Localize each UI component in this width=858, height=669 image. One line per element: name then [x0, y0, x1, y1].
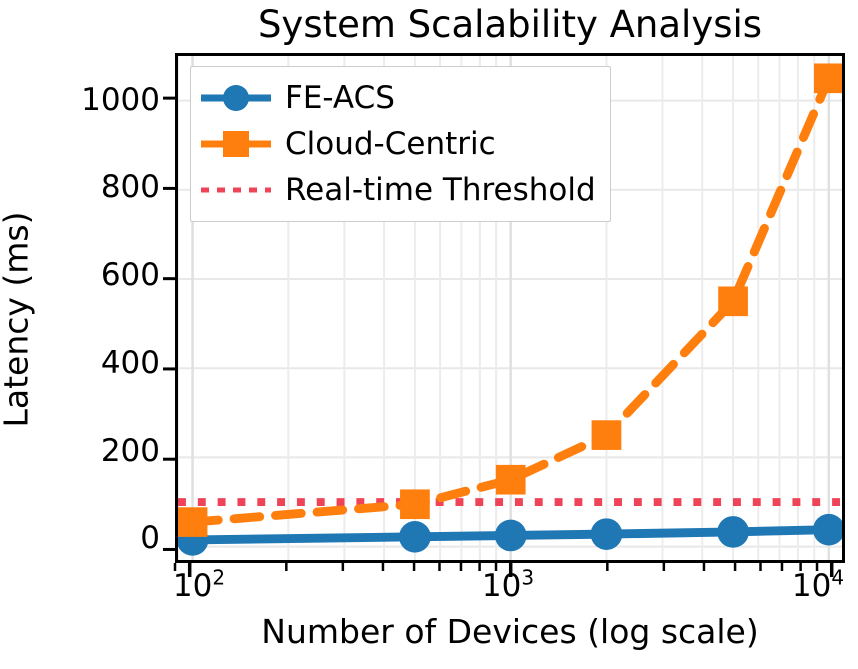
legend-label-fe-acs: FE-ACS [285, 80, 395, 116]
legend-swatch-line-circle [201, 78, 271, 118]
legend-item-fe-acs[interactable]: FE-ACS [201, 75, 596, 121]
data-point-marker [399, 521, 431, 553]
legend-swatch-line-square [201, 124, 271, 164]
data-point-marker [400, 489, 430, 519]
y-tick-800: 800 [101, 169, 160, 205]
x-axis-label: Number of Devices (log scale) [175, 612, 845, 651]
x-tick-1e3: 103 [482, 568, 534, 604]
data-point-marker [592, 420, 622, 450]
x-tick-base: 10 [482, 568, 521, 604]
legend-label-cloud-centric: Cloud-Centric [285, 126, 496, 162]
x-tick-base: 10 [173, 568, 212, 604]
y-axis-tick-labels: 1000 800 600 400 200 0 [0, 0, 160, 669]
x-tick-1e2: 102 [173, 568, 225, 604]
data-point-marker [591, 518, 623, 550]
data-point-marker [495, 520, 527, 552]
y-tick-400: 400 [101, 345, 160, 381]
data-point-marker [496, 465, 526, 495]
chart-figure: System Scalability Analysis Latency (ms)… [0, 0, 858, 669]
legend-label-real-time-threshold: Real-time Threshold [285, 172, 596, 208]
y-tick-0: 0 [140, 520, 160, 556]
legend-item-real-time-threshold[interactable]: Real-time Threshold [201, 167, 596, 213]
data-point-marker [178, 507, 207, 537]
legend: FE-ACS Cloud-Centric Real-time Threshold [190, 66, 611, 222]
legend-swatch-dotted [201, 170, 271, 210]
x-tick-exponent: 3 [521, 566, 534, 590]
x-tick-exponent: 2 [212, 566, 225, 590]
data-point-marker [814, 63, 842, 93]
y-tick-600: 600 [101, 257, 160, 293]
y-tick-200: 200 [101, 433, 160, 469]
chart-title: System Scalability Analysis [175, 0, 845, 50]
legend-item-cloud-centric[interactable]: Cloud-Centric [201, 121, 596, 167]
y-tick-1000: 1000 [81, 82, 160, 118]
data-point-marker [717, 516, 749, 548]
x-tick-exponent: 4 [831, 566, 844, 590]
x-tick-1e4: 104 [792, 568, 844, 604]
data-point-marker [813, 514, 842, 546]
data-point-marker [718, 286, 748, 316]
x-tick-base: 10 [792, 568, 831, 604]
